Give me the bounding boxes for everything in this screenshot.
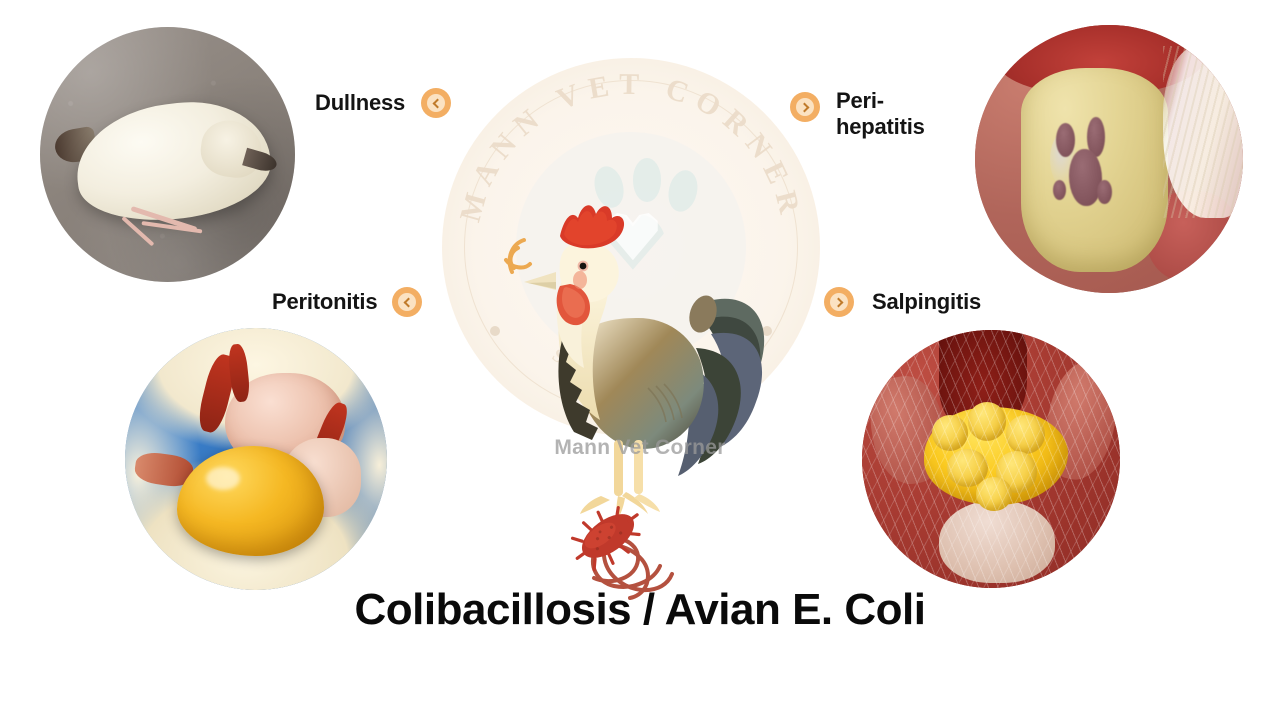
- finding-label-peritonitis: Peritonitis: [272, 289, 377, 315]
- chevron-right-icon[interactable]: [790, 92, 820, 122]
- chevron-glyph: [799, 102, 809, 112]
- liver-lobe: [1053, 180, 1066, 200]
- liver-lobe: [1097, 180, 1112, 204]
- chevron-left-icon[interactable]: [392, 287, 422, 317]
- chevron-glyph: [432, 98, 442, 108]
- chevron-right-icon-core: [796, 98, 814, 116]
- photo-dullness: [40, 27, 295, 282]
- chevron-left-icon-core: [427, 94, 445, 112]
- finding-salpingitis[interactable]: Salpingitis: [824, 287, 981, 317]
- finding-label-dullness: Dullness: [315, 90, 405, 116]
- finding-peritonitis[interactable]: Peritonitis: [272, 287, 422, 317]
- crow-sound-icon: [506, 240, 530, 272]
- chevron-right-icon-core: [830, 293, 848, 311]
- finding-label-salpingitis: Salpingitis: [872, 289, 981, 315]
- white-feathers: [1163, 46, 1243, 218]
- photo-perihepatitis: [975, 25, 1243, 293]
- watermark-text: Mann Vet Corner: [0, 436, 1280, 460]
- infographic-canvas: MANN VET CORNER SINCE 2020: [0, 0, 1280, 720]
- rooster-logo-icon: [498, 188, 788, 518]
- chevron-glyph: [833, 297, 843, 307]
- finding-label-perihepatitis: Peri- hepatitis: [836, 88, 925, 139]
- finding-label-line2: hepatitis: [836, 114, 925, 139]
- finding-perihepatitis[interactable]: Peri- hepatitis: [790, 88, 925, 139]
- chevron-left-icon-core: [398, 293, 416, 311]
- finding-label-line1: Peri-: [836, 88, 884, 113]
- page-title: Colibacillosis / Avian E. Coli: [0, 585, 1280, 635]
- chevron-right-icon[interactable]: [824, 287, 854, 317]
- chevron-left-icon[interactable]: [421, 88, 451, 118]
- finding-dullness[interactable]: Dullness: [315, 88, 451, 118]
- chevron-glyph: [403, 297, 413, 307]
- liver-with-fibrin: [1021, 68, 1168, 272]
- liver-lobe: [1069, 149, 1101, 206]
